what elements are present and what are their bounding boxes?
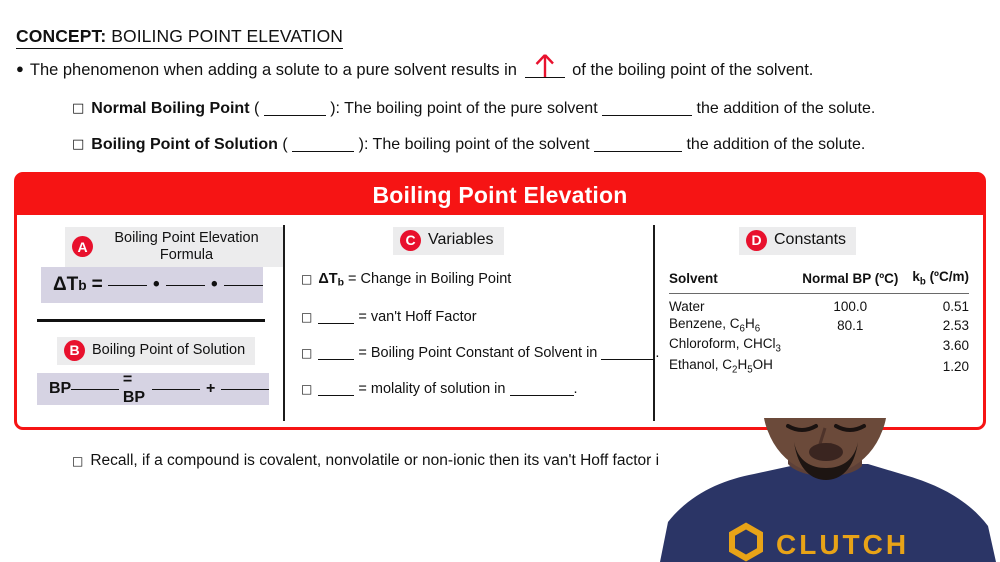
cell-solvent: Benzene, C6H6 [669, 315, 796, 336]
cell-solvent: Ethanol, C2H5OH [669, 356, 796, 377]
definition-term: Normal Boiling Point [91, 100, 249, 117]
variable-text: = van't Hoff Factor [358, 309, 476, 325]
cell-solvent: Water [669, 293, 796, 315]
formula-bp-left: BP [49, 380, 71, 398]
panel-c-label: Variables [428, 231, 494, 249]
answer-blank [318, 359, 354, 360]
panel-d-header: D Constants [739, 227, 856, 255]
panel-c-header: C Variables [393, 227, 504, 255]
checkbox-square-icon: □ [301, 310, 312, 324]
formula-subscript: b [78, 278, 86, 293]
panel-b-header: B Boiling Point of Solution [57, 337, 255, 365]
answer-blank [525, 77, 565, 78]
presenter-figure: CLUTCH [650, 418, 1000, 562]
cell-bp: 100.0 [796, 293, 905, 315]
answer-blank [108, 285, 147, 286]
answer-blank [166, 285, 205, 286]
variable-period: . [655, 345, 659, 361]
checkbox-square-icon: □ [301, 346, 312, 360]
section-divider [37, 319, 265, 322]
main-bullet: ●The phenomenon when adding a solute to … [16, 61, 813, 80]
variable-period: . [574, 381, 578, 397]
main-bullet-text-before: The phenomenon when adding a solute to a… [30, 61, 517, 79]
definition-text-before: The boiling point of the solvent [373, 136, 590, 153]
cell-kb: 2.53 [905, 315, 969, 336]
answer-blank [318, 395, 354, 396]
panel-divider [283, 225, 285, 421]
badge-d: D [746, 230, 767, 251]
table-header-row: Solvent Normal BP (ºC) kb (ºC/m) [669, 269, 969, 293]
badge-b: B [64, 340, 85, 361]
boiling-point-elevation-card: Boiling Point Elevation A Boiling Point … [14, 172, 986, 430]
answer-blank [221, 389, 269, 390]
card-title: Boiling Point Elevation [17, 175, 983, 215]
checkbox-square-icon: □ [72, 454, 83, 468]
answer-blank [318, 323, 354, 324]
list-item: □ = molality of solution in . [301, 381, 651, 397]
list-item: □ΔTb = Change in Boiling Point [301, 271, 651, 289]
formula-plus: + [206, 380, 215, 398]
paren-open: ( [282, 136, 287, 153]
card-body: A Boiling Point Elevation Formula ΔTb = … [17, 215, 983, 429]
main-bullet-text-after: of the boiling point of the solvent. [572, 61, 813, 79]
list-item: □ = Boiling Point Constant of Solvent in… [301, 345, 651, 361]
panel-a-header: A Boiling Point Elevation Formula [65, 227, 283, 267]
answer-blank [594, 151, 682, 152]
concept-label: CONCEPT: [16, 26, 106, 46]
column-header-solvent: Solvent [669, 269, 796, 293]
cell-solvent: Chloroform, CHCl3 [669, 335, 796, 356]
cell-kb: 0.51 [905, 293, 969, 315]
answer-blank [152, 389, 200, 390]
formula-equals: = [92, 274, 103, 296]
constants-table: Solvent Normal BP (ºC) kb (ºC/m) Water 1… [669, 269, 969, 377]
recall-note: □Recall, if a compound is covalent, nonv… [72, 452, 659, 470]
panel-b-label: Boiling Point of Solution [92, 342, 245, 359]
column-header-kb: kb (ºC/m) [905, 269, 969, 293]
badge-c: C [400, 230, 421, 251]
checkbox-square-icon: □ [72, 101, 84, 116]
cell-bp [796, 335, 905, 356]
panel-a-label: Boiling Point Elevation Formula [100, 230, 273, 263]
checkbox-square-icon: □ [301, 382, 312, 396]
badge-a: A [72, 236, 93, 257]
variable-subscript: b [338, 278, 344, 289]
answer-blank [292, 151, 354, 152]
panel-d-label: Constants [774, 231, 846, 249]
variables-list: □ΔTb = Change in Boiling Point □ = van't… [301, 271, 651, 417]
paren-close: ): [359, 136, 369, 153]
definition-term: Boiling Point of Solution [91, 136, 278, 153]
variable-text: = Boiling Point Constant of Solvent in [358, 345, 597, 361]
formula-equals: = BP [123, 371, 153, 407]
paren-open: ( [254, 100, 259, 117]
answer-blank [224, 285, 263, 286]
definition-boiling-point-of-solution: □Boiling Point of Solution ( ): The boil… [72, 136, 865, 154]
presenter-video-overlay: CLUTCH [650, 418, 1000, 562]
formula-delta-tb: ΔTb = • • [41, 267, 263, 303]
definition-text-after: the addition of the solute. [697, 100, 876, 117]
table-row: Water 100.0 0.51 [669, 293, 969, 315]
answer-blank [71, 389, 119, 390]
definition-text-before: The boiling point of the pure solvent [344, 100, 598, 117]
cell-bp [796, 356, 905, 377]
answer-blank [602, 115, 692, 116]
bullet-dot-icon: ● [16, 61, 24, 76]
definition-text-after: the addition of the solute. [686, 136, 865, 153]
formula-bp-solution: BP = BP + [37, 373, 269, 405]
answer-blank [601, 359, 655, 360]
cell-kb: 1.20 [905, 356, 969, 377]
panel-divider [653, 225, 655, 421]
answer-blank [510, 395, 574, 396]
table-row: Ethanol, C2H5OH 1.20 [669, 356, 969, 377]
variable-text: = molality of solution in [358, 381, 505, 397]
shirt-wordmark: CLUTCH [776, 529, 909, 560]
checkbox-square-icon: □ [301, 272, 312, 286]
column-header-normal-bp: Normal BP (ºC) [796, 269, 905, 293]
page-title: CONCEPT: BOILING POINT ELEVATION [16, 26, 343, 47]
definition-normal-boiling-point: □Normal Boiling Point ( ): The boiling p… [72, 100, 875, 118]
list-item: □ = van't Hoff Factor [301, 309, 651, 325]
table-row: Benzene, C6H6 80.1 2.53 [669, 315, 969, 336]
concept-title: BOILING POINT ELEVATION [111, 26, 343, 46]
slide-canvas: CONCEPT: BOILING POINT ELEVATION ●The ph… [0, 0, 1000, 562]
table-row: Chloroform, CHCl3 3.60 [669, 335, 969, 356]
answer-blank [264, 115, 326, 116]
paren-close: ): [330, 100, 340, 117]
cell-bp: 80.1 [796, 315, 905, 336]
variable-symbol: ΔT [318, 271, 337, 287]
cell-kb: 3.60 [905, 335, 969, 356]
recall-text: Recall, if a compound is covalent, nonvo… [90, 452, 659, 469]
checkbox-square-icon: □ [72, 137, 84, 152]
up-arrow-icon [533, 52, 557, 78]
variable-text: = Change in Boiling Point [348, 271, 511, 287]
formula-symbol: ΔT [53, 274, 78, 296]
